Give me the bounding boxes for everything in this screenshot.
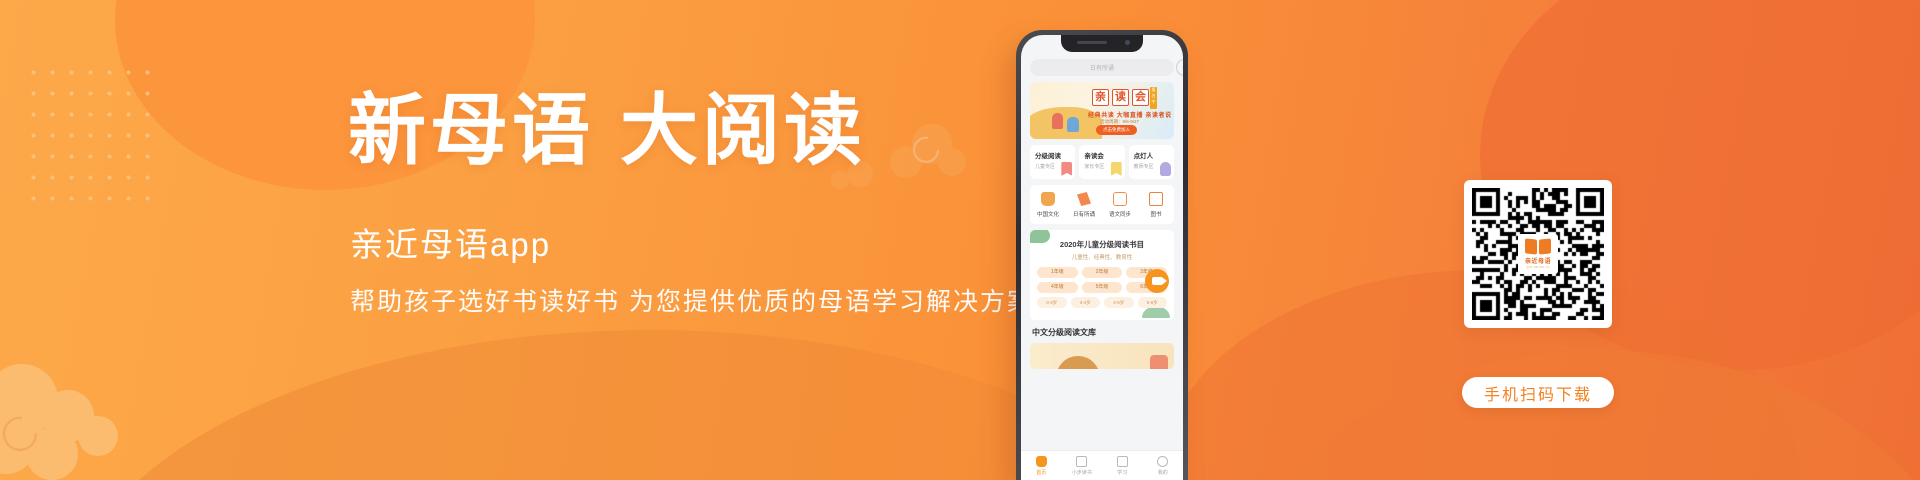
arc-decor (1056, 356, 1100, 369)
promo-join-button[interactable]: 点击免费加入 (1096, 125, 1137, 135)
decor-hill-right (1220, 350, 1920, 480)
logo-en-text: QIN JIN MU YU (1526, 265, 1550, 269)
tab-study[interactable]: 学习 (1102, 456, 1143, 476)
list-icon (1076, 456, 1087, 467)
decor-cloud-left (0, 358, 182, 480)
speaker-icon (1077, 41, 1107, 44)
category-cards: 分级阅读 儿童专区 亲读会 家长专区 点灯人 教师专区 (1030, 145, 1174, 179)
kid-figure-2 (1067, 117, 1079, 132)
age-row: 0-3岁 3-4岁 4-5岁 5-6岁 (1037, 297, 1167, 308)
quick-nav-sync[interactable]: 语文同步 (1102, 192, 1138, 218)
phone-mockup: 日有所诵 ··· 亲 读 会 报名中 经典共读 大咖直播 亲读者说 活动周期：9… (1016, 30, 1188, 480)
search-placeholder: 日有所诵 (1090, 63, 1114, 72)
tab-label: 我的 (1143, 469, 1184, 476)
promo-flag: 报名中 (1150, 87, 1157, 109)
library-title: 中文分级阅读文库 (1032, 327, 1183, 338)
qr-code-image: 亲近母语 QIN JIN MU YU (1472, 188, 1604, 320)
booklist-title: 2020年儿童分级阅读书目 (1037, 239, 1167, 250)
grade-pill[interactable]: 2年级 (1082, 267, 1123, 278)
bookmark-icon (1061, 162, 1072, 176)
tab-reading[interactable]: 小步读书 (1062, 456, 1103, 476)
age-pill[interactable]: 3-4岁 (1071, 297, 1101, 308)
page-title: 新母语大阅读 (348, 92, 866, 170)
tab-label: 首页 (1021, 469, 1062, 476)
booklist-module: 2020年儿童分级阅读书目 儿童性、经典性、教育性 1年级 2年级 3年级 4年… (1030, 230, 1174, 320)
sync-icon (1113, 192, 1127, 206)
card-title: 点灯人 (1134, 150, 1169, 160)
phone-notch (1061, 35, 1143, 52)
grade-pill-rows: 1年级 2年级 3年级 4年级 5年级 6年级 0-3岁 3-4岁 4-5岁 5… (1037, 267, 1167, 308)
app-name: 亲近母语app (350, 218, 551, 266)
tab-label: 小步读书 (1062, 469, 1103, 476)
quick-nav-label: 中国文化 (1030, 210, 1066, 218)
grade-pill[interactable]: 5年级 (1082, 282, 1123, 293)
decor-dot-grid (24, 62, 164, 212)
promo-card[interactable]: 亲 读 会 报名中 经典共读 大咖直播 亲读者说 活动周期：9/6-9/27 点… (1030, 82, 1174, 139)
headline-left: 新母语 (348, 85, 594, 176)
study-icon (1117, 456, 1128, 467)
tab-bar: 首页 小步读书 学习 我的 (1021, 450, 1183, 480)
category-card-graded[interactable]: 分级阅读 儿童专区 (1030, 145, 1075, 179)
qr-center-logo: 亲近母语 QIN JIN MU YU (1518, 234, 1558, 274)
profile-icon (1157, 456, 1168, 467)
card-title: 亲读会 (1084, 150, 1119, 160)
tab-profile[interactable]: 我的 (1143, 456, 1184, 476)
culture-icon (1041, 192, 1055, 206)
quick-nav-culture[interactable]: 中国文化 (1030, 192, 1066, 218)
logo-cn-text: 亲近母语 (1525, 256, 1551, 265)
video-play-icon[interactable] (1145, 269, 1169, 293)
tab-decor (1150, 355, 1168, 369)
grade-pill[interactable]: 1年级 (1037, 267, 1078, 278)
quick-nav-recite[interactable]: 日有所诵 (1066, 192, 1102, 218)
recite-icon (1077, 192, 1091, 206)
category-card-teacher[interactable]: 点灯人 教师专区 (1129, 145, 1174, 179)
promo-banner: 新母语大阅读 亲近母语app 帮助孩子选好书读好书 为您提供优质的母语学习解决方… (0, 0, 1920, 480)
book-icon (1149, 192, 1163, 206)
quick-nav-label: 日有所诵 (1066, 210, 1102, 218)
leaf-decor-left (1030, 230, 1050, 243)
quick-nav-label: 图书 (1138, 210, 1174, 218)
library-card[interactable] (1030, 343, 1174, 369)
age-pill[interactable]: 4-5岁 (1104, 297, 1134, 308)
camera-icon (1125, 40, 1130, 45)
phone-screen: 日有所诵 ··· 亲 读 会 报名中 经典共读 大咖直播 亲读者说 活动周期：9… (1021, 35, 1183, 480)
promo-title: 亲 读 会 (1092, 89, 1149, 106)
home-icon (1036, 456, 1047, 467)
age-pill[interactable]: 0-3岁 (1037, 297, 1067, 308)
promo-char-1: 亲 (1092, 89, 1109, 106)
search-input[interactable]: 日有所诵 ··· (1030, 59, 1174, 76)
message-icon[interactable]: ··· (1176, 59, 1183, 76)
tab-home[interactable]: 首页 (1021, 456, 1062, 476)
promo-char-2: 读 (1112, 89, 1129, 106)
headline-right: 大阅读 (620, 85, 866, 176)
quick-nav-book[interactable]: 图书 (1138, 192, 1174, 218)
card-title: 分级阅读 (1035, 150, 1070, 160)
promo-subtitle: 经典共读 大咖直播 亲读者说 (1088, 110, 1172, 119)
person-icon (1160, 162, 1171, 176)
book-logo-icon (1525, 239, 1551, 254)
promo-char-3: 会 (1132, 89, 1149, 106)
leaf-decor-right (1142, 307, 1170, 318)
quick-nav: 中国文化 日有所诵 语文同步 图书 (1030, 185, 1174, 224)
download-button[interactable]: 手机扫码下载 (1462, 377, 1614, 408)
booklist-subtitle: 儿童性、经典性、教育性 (1037, 253, 1167, 261)
category-card-parent[interactable]: 亲读会 家长专区 (1079, 145, 1124, 179)
quick-nav-label: 语文同步 (1102, 210, 1138, 218)
age-pill[interactable]: 5-6岁 (1138, 297, 1168, 308)
tagline: 帮助孩子选好书读好书 为您提供优质的母语学习解决方案 (350, 282, 1034, 318)
grade-pill[interactable]: 4年级 (1037, 282, 1078, 293)
tab-label: 学习 (1102, 469, 1143, 476)
kid-figure-1 (1052, 113, 1063, 129)
qr-code-panel: 亲近母语 QIN JIN MU YU (1464, 180, 1612, 328)
bookmark-icon (1111, 162, 1122, 176)
